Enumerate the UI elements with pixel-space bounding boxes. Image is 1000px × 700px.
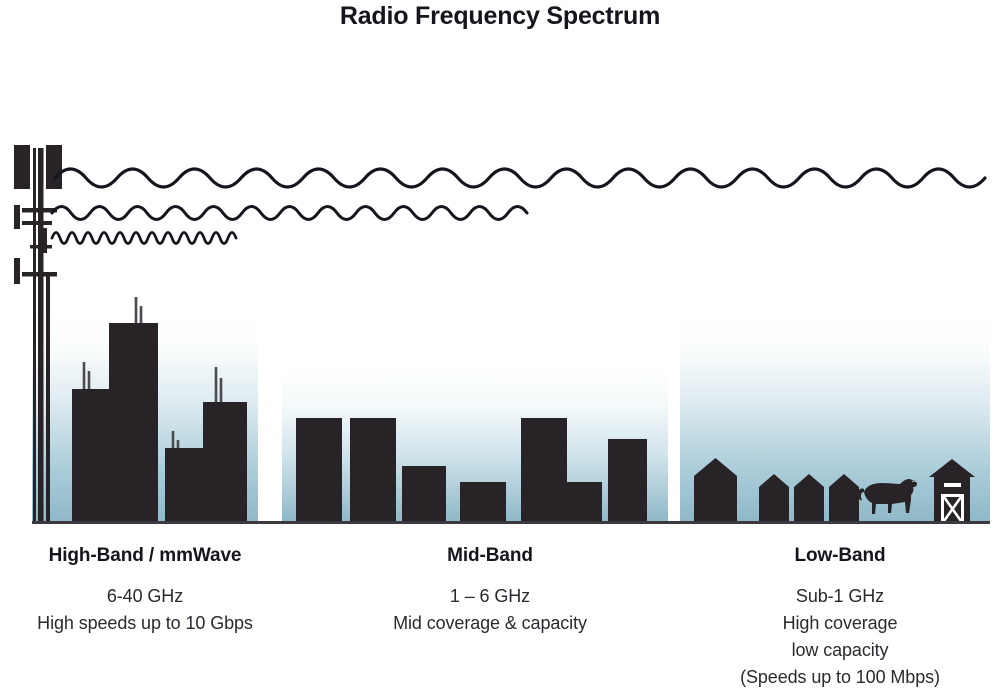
band-frequency-low-band: Sub-1 GHz	[690, 583, 990, 610]
building	[608, 439, 647, 522]
building	[521, 418, 567, 522]
tower-leg	[46, 276, 50, 522]
house	[794, 496, 824, 522]
house	[759, 496, 789, 522]
band-column-mid-band: Mid-Band 1 – 6 GHz Mid coverage & capaci…	[345, 545, 635, 637]
band-frequency-high-band: 6-40 GHz	[0, 583, 290, 610]
antenna-small-2	[41, 228, 47, 253]
building	[460, 482, 506, 522]
band-column-low-band: Low-Band Sub-1 GHz High coverage low cap…	[690, 545, 990, 691]
antenna-panel-left	[14, 145, 30, 189]
building	[109, 323, 158, 522]
antenna-small-3	[14, 258, 20, 284]
band-detail-low-band-3: (Speeds up to 100 Mbps)	[690, 664, 990, 691]
building	[567, 482, 602, 522]
tower-mast	[38, 148, 44, 522]
building	[165, 448, 203, 522]
band-column-high-band: High-Band / mmWave 6-40 GHz High speeds …	[0, 545, 290, 637]
barn-loft-window	[944, 483, 961, 487]
band-title-low-band: Low-Band	[690, 545, 990, 567]
mid-band-wave	[52, 207, 527, 220]
tower-crossbar-1b	[22, 221, 52, 225]
building	[296, 418, 342, 522]
low-band-wave	[55, 169, 985, 187]
band-detail-low-band-2: low capacity	[690, 637, 990, 664]
building	[72, 389, 109, 522]
band-title-mid-band: Mid-Band	[345, 545, 635, 567]
high-band-wave	[52, 233, 236, 244]
ground-line	[32, 521, 990, 524]
building	[350, 418, 396, 522]
band-detail-mid-band: Mid coverage & capacity	[345, 610, 635, 637]
infographic-root: Radio Frequency Spectrum	[0, 0, 1000, 700]
band-description-low-band: Sub-1 GHz High coverage low capacity (Sp…	[690, 583, 990, 691]
band-description-high-band: 6-40 GHz High speeds up to 10 Gbps	[0, 583, 290, 637]
tower-crossbar-2	[30, 245, 52, 249]
house	[829, 496, 859, 522]
building	[402, 466, 446, 522]
band-title-high-band: High-Band / mmWave	[0, 545, 290, 567]
band-description-mid-band: 1 – 6 GHz Mid coverage & capacity	[345, 583, 635, 637]
band-labels: High-Band / mmWave 6-40 GHz High speeds …	[0, 545, 1000, 700]
band-detail-low-band-1: High coverage	[690, 610, 990, 637]
band-detail-high-band: High speeds up to 10 Gbps	[0, 610, 290, 637]
tower-crossbar-3	[22, 272, 57, 277]
building	[203, 402, 247, 522]
house	[694, 490, 737, 522]
tower-mast-secondary	[33, 148, 36, 522]
antenna-panel-right	[46, 145, 62, 189]
band-frequency-mid-band: 1 – 6 GHz	[345, 583, 635, 610]
antenna-small-1	[14, 205, 20, 229]
